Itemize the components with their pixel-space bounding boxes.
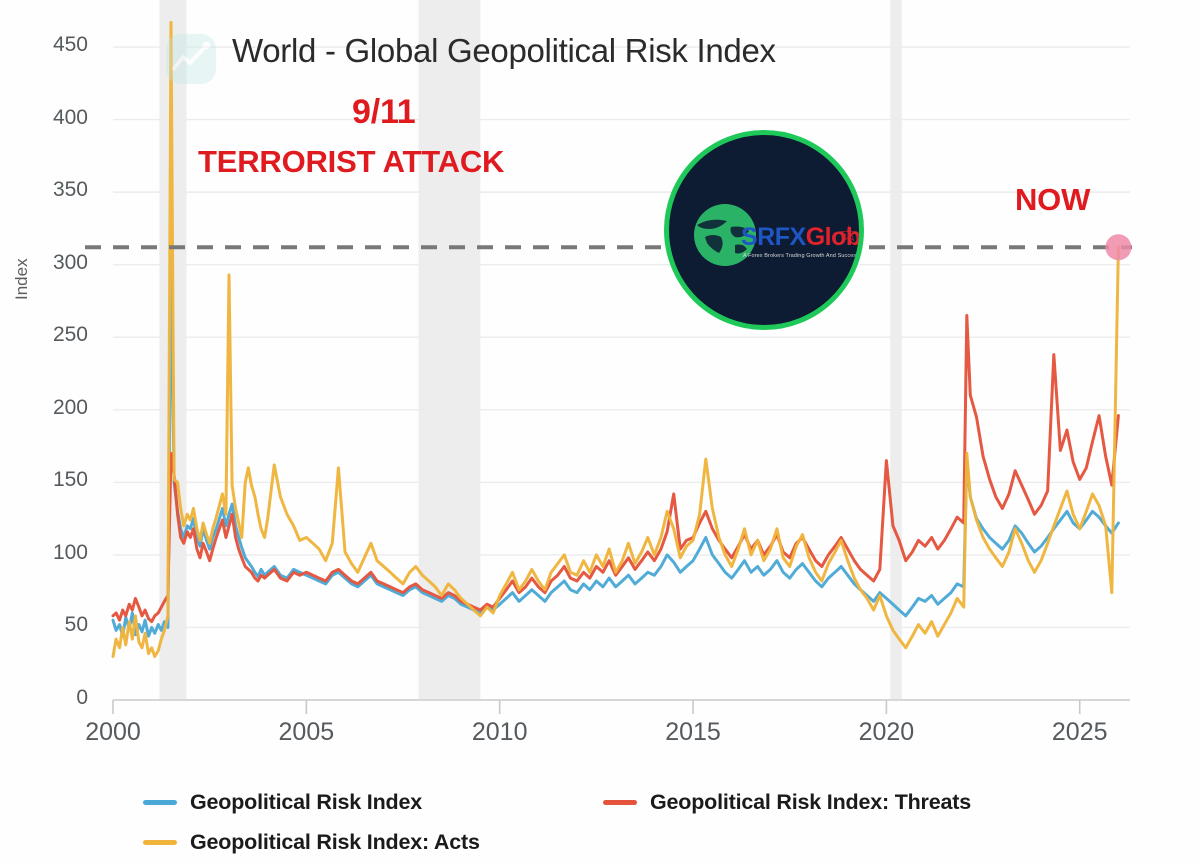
geopolitical-risk-line-chart	[0, 0, 1200, 770]
recession-bands	[159, 0, 901, 700]
x-tick-2005: 2005	[261, 718, 351, 747]
annotation-terrorist-attack: TERRORIST ATTACK	[198, 144, 504, 180]
x-tick-2025: 2025	[1035, 718, 1125, 747]
chart-legend: Geopolitical Risk Index Geopolitical Ris…	[0, 778, 1200, 863]
data-series-group	[113, 22, 1118, 656]
y-tick-0: 0	[28, 686, 88, 710]
chart-page: World - Global Geopolitical Risk Index I…	[0, 0, 1200, 863]
logo-tagline: A Forex Brokers Trading Growth And Succe…	[743, 253, 864, 259]
chart-title: World - Global Geopolitical Risk Index	[232, 32, 776, 70]
legend-swatch-index	[143, 800, 177, 805]
y-tick-250: 250	[28, 323, 88, 347]
x-tick-2015: 2015	[648, 718, 738, 747]
legend-item-acts[interactable]: Geopolitical Risk Index: Acts	[143, 830, 480, 855]
y-tick-300: 300	[28, 251, 88, 275]
trading-watermark-icon	[162, 30, 220, 88]
x-tick-2000: 2000	[68, 718, 158, 747]
y-tick-150: 150	[28, 468, 88, 492]
y-tick-350: 350	[28, 178, 88, 202]
legend-item-index[interactable]: Geopolitical Risk Index	[143, 790, 422, 815]
legend-swatch-threats	[603, 800, 637, 805]
legend-item-threats[interactable]: Geopolitical Risk Index: Threats	[603, 790, 971, 815]
y-tick-450: 450	[28, 33, 88, 57]
x-tick-marks	[113, 700, 1080, 714]
annotation-9-11: 9/11	[352, 93, 416, 132]
logo-name-srfx: SRFX	[741, 223, 806, 251]
legend-label-acts: Geopolitical Risk Index: Acts	[190, 830, 480, 855]
logo-star-icon: ☆	[839, 221, 859, 247]
y-tick-50: 50	[28, 613, 88, 637]
x-tick-2010: 2010	[455, 718, 545, 747]
x-tick-2020: 2020	[841, 718, 931, 747]
y-tick-100: 100	[28, 541, 88, 565]
legend-swatch-acts	[143, 840, 177, 845]
y-tick-400: 400	[28, 106, 88, 130]
now-marker-dot	[1105, 234, 1131, 260]
srfx-global-logo: SRFXGlobal ☆ A Forex Brokers Trading Gro…	[664, 130, 864, 330]
annotation-now: NOW	[1015, 182, 1090, 218]
chart-plot-area: World - Global Geopolitical Risk Index I…	[0, 0, 1200, 770]
legend-label-index: Geopolitical Risk Index	[190, 790, 422, 815]
y-tick-200: 200	[28, 396, 88, 420]
legend-label-threats: Geopolitical Risk Index: Threats	[650, 790, 971, 815]
